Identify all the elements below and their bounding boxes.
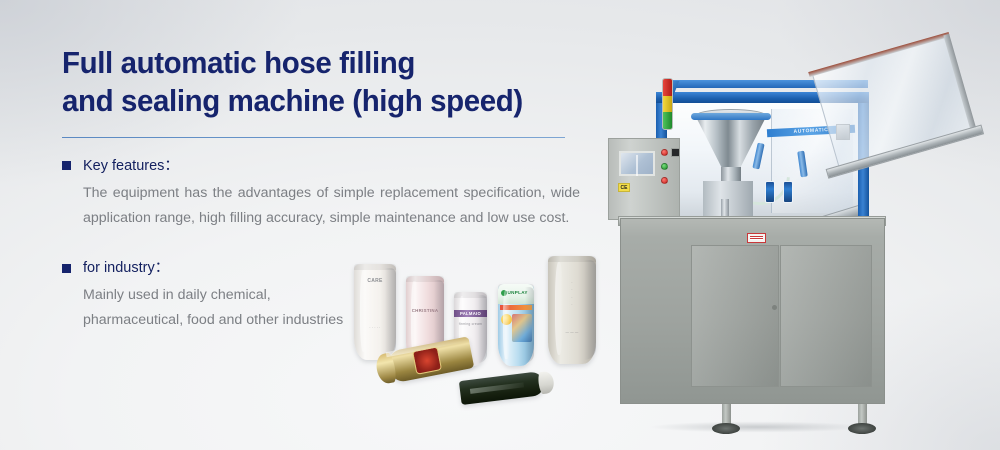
feature-body-for-industry: Mainly used in daily chemical, pharmaceu…: [83, 283, 361, 332]
emergency-stop-button: [661, 149, 668, 156]
cabinet-door-right: [780, 245, 872, 387]
tube-shade: [584, 260, 596, 359]
control-panel: CE: [608, 138, 680, 220]
signal-lamp-green-icon: [663, 112, 672, 129]
tube-text-label: ····: [553, 280, 591, 310]
guard-door-open: [808, 32, 978, 176]
page-title: Full automatic hose filling and sealing …: [62, 44, 556, 120]
product-banner: Full automatic hose filling and sealing …: [0, 0, 1000, 450]
hopper-clamp: [691, 113, 771, 120]
bullet-square-icon: [62, 161, 71, 170]
tube-dark-green: [459, 371, 545, 405]
warning-label: [747, 233, 766, 243]
tube-white-lotus: CARE · · · · ·: [354, 264, 396, 360]
sensor-box: [783, 181, 793, 203]
tube-text-label: [470, 382, 524, 394]
machine-foot: [858, 404, 867, 428]
bullet-square-icon: [62, 264, 71, 273]
signal-lamp-red-icon: [663, 79, 672, 96]
tube-brand-label: CHRISTINA: [406, 308, 444, 313]
tube-text-label: · · · · ·: [358, 326, 392, 331]
hmi-touchscreen: [619, 151, 655, 176]
feature-heading-for-industry: for industry：: [83, 261, 169, 276]
product-tubes-group: CARE · · · · · CHRISTINA PALMAIO firming…: [352, 252, 602, 420]
tube-gloss: [503, 289, 509, 360]
selector-switch: [671, 148, 680, 157]
tube-text-label: firming cream: [457, 322, 483, 327]
feature-block-key-features: Key features： The equipment has the adva…: [62, 159, 582, 230]
tube-brand-label: CARE: [354, 278, 396, 284]
tube-blue-sunplay: SUNPLAY: [498, 284, 534, 366]
tube-brand-label: PALMAIO: [454, 310, 487, 317]
stop-button: [661, 177, 668, 184]
sensor-box: [765, 181, 775, 203]
tube-cap: [537, 371, 555, 395]
feature-heading-row: Key features：: [62, 159, 582, 174]
cabinet-door-handle: [772, 305, 777, 310]
machine-image: AUTOMATIC: [600, 28, 1000, 418]
tube-beige-large: ···· — — —: [548, 256, 596, 364]
machine-cabinet: [620, 218, 885, 404]
tube-shade: [478, 295, 487, 363]
signal-lamp-yellow-icon: [663, 96, 672, 113]
ce-mark-text: CE: [619, 184, 629, 193]
start-button: [661, 163, 668, 170]
ce-mark-label: CE: [618, 183, 630, 192]
feature-body-key-features: The equipment has the advantages of simp…: [83, 181, 580, 230]
cabinet-door-left: [691, 245, 779, 387]
pneumatic-cylinder: [752, 143, 764, 170]
title-divider: [62, 137, 565, 138]
feature-heading-key-features: Key features：: [83, 159, 179, 174]
machine-foot: [722, 404, 731, 428]
tube-gold: [386, 336, 475, 383]
tube-shade: [525, 287, 534, 362]
tube-text-label-bottom: — — —: [553, 330, 591, 335]
signal-tower: [662, 78, 673, 130]
